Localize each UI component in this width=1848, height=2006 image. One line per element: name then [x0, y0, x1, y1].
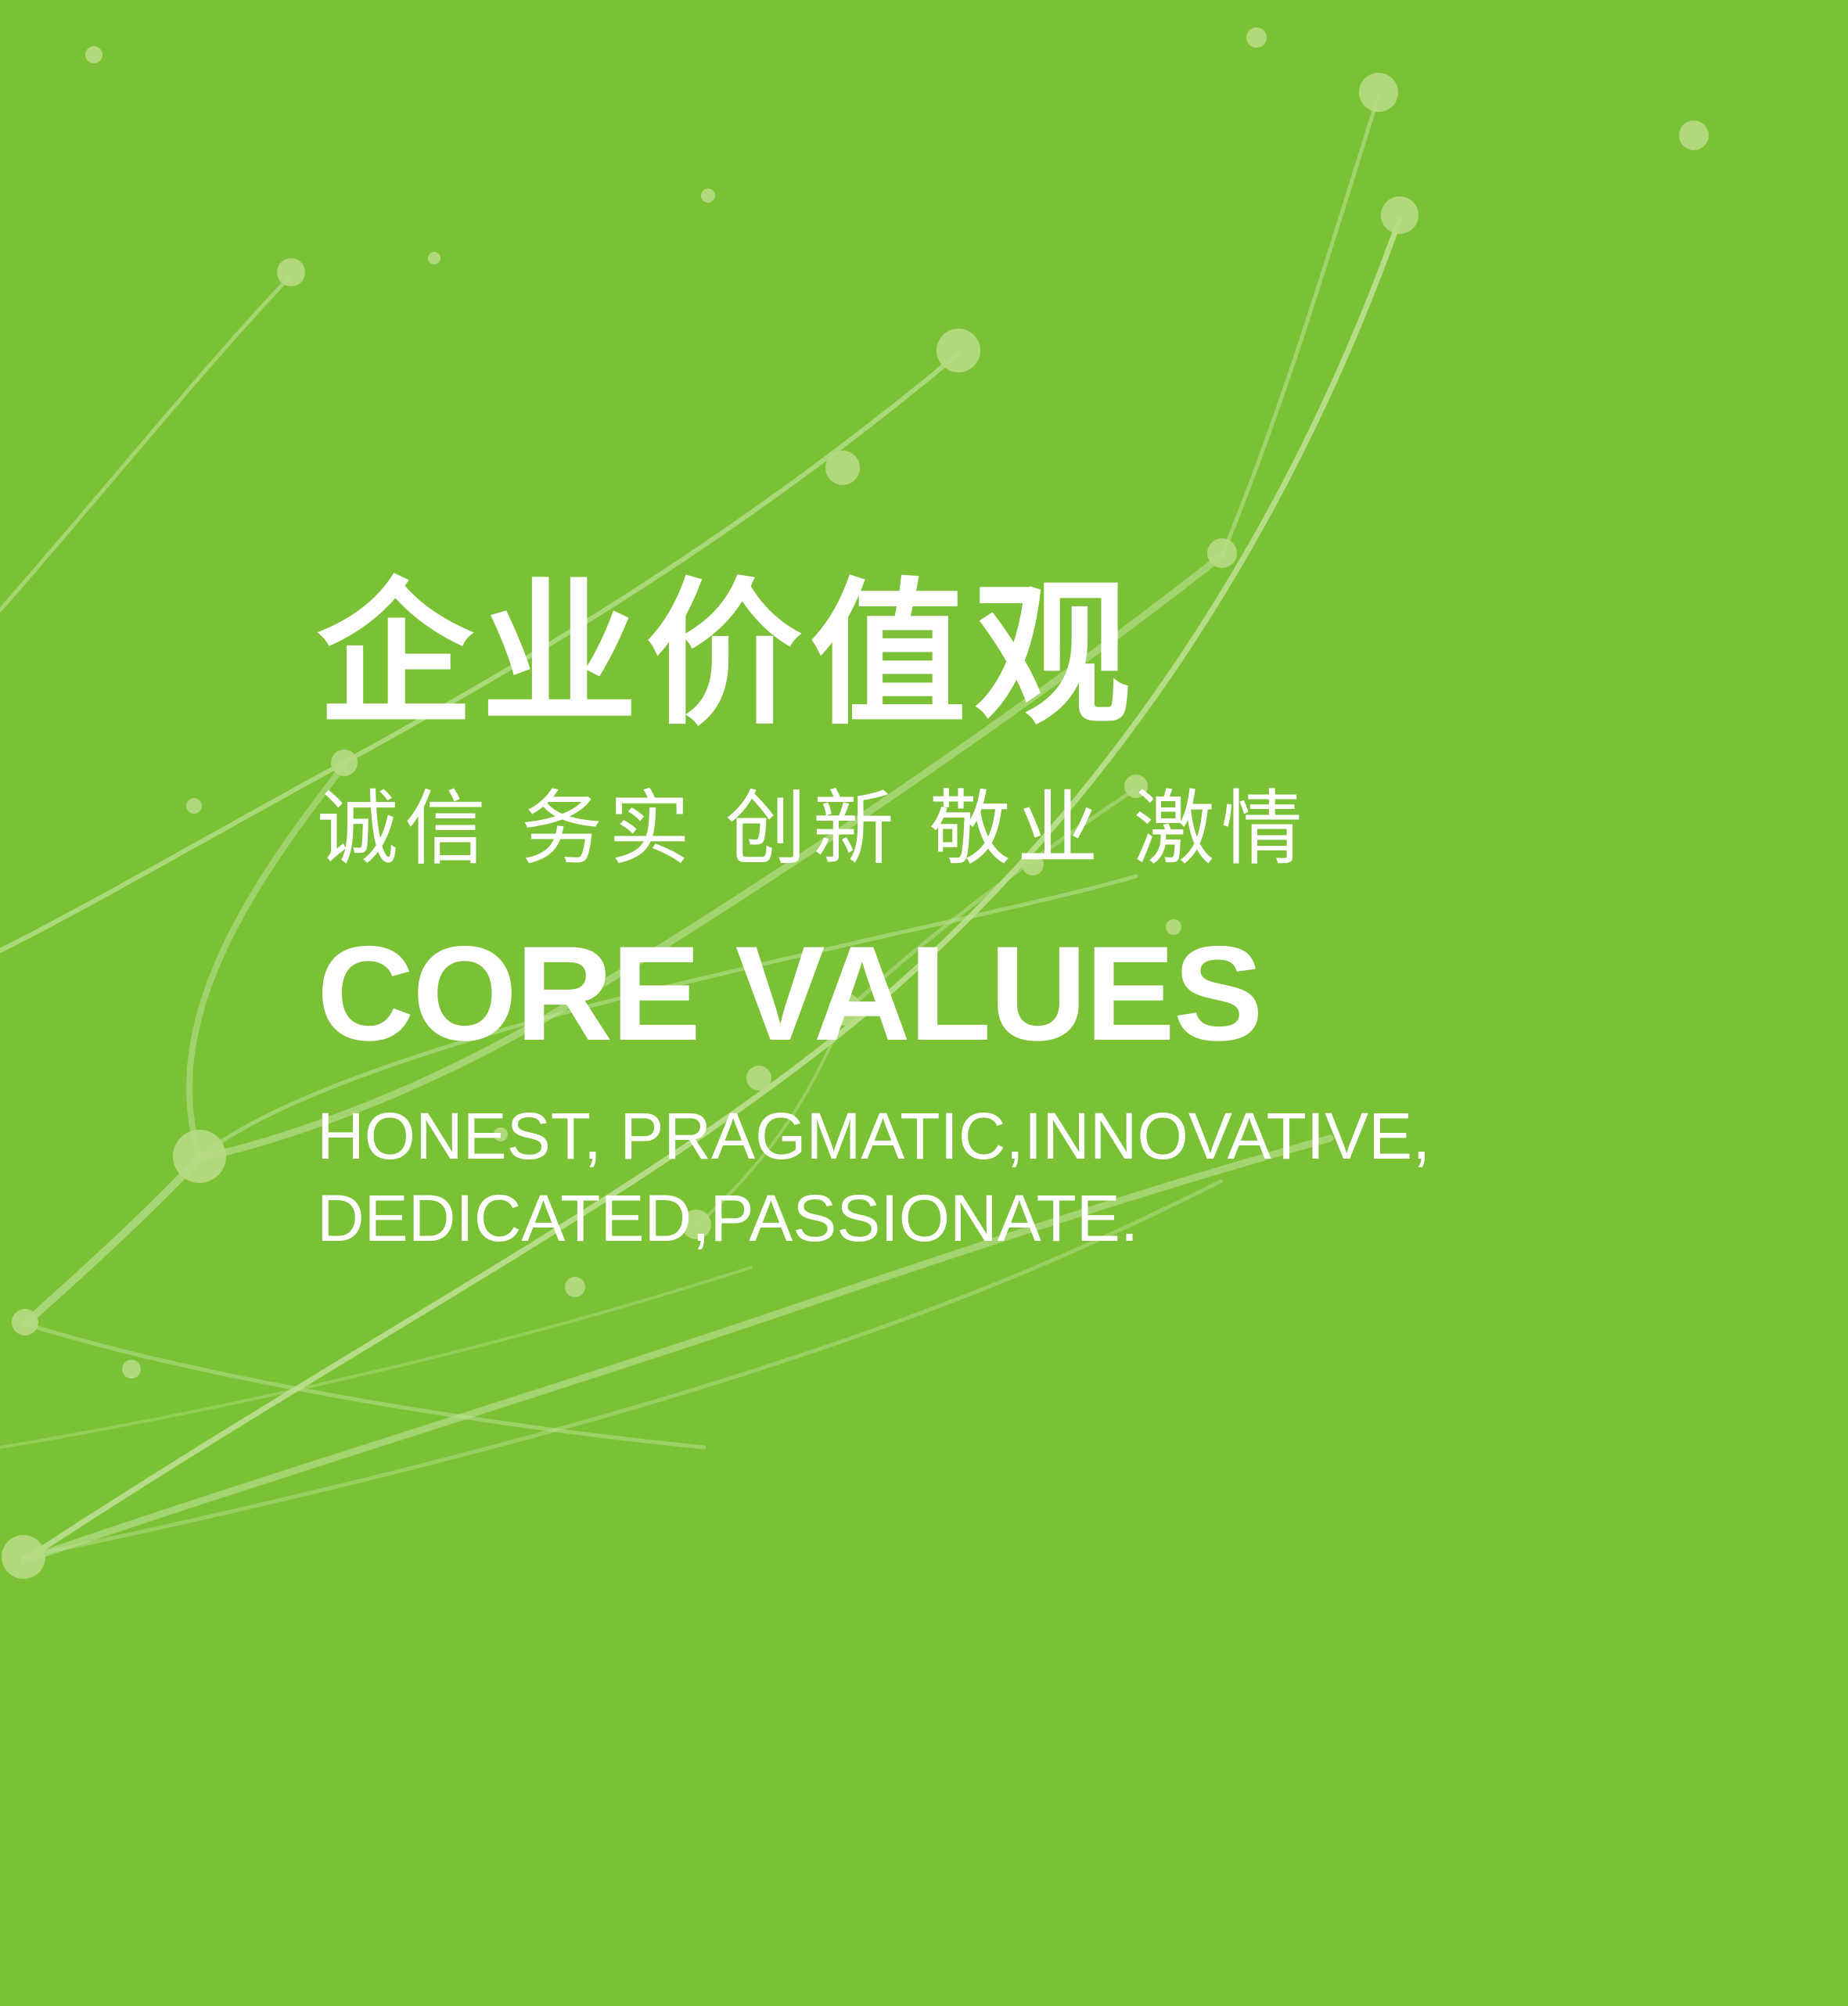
page-title-chinese: 企业价值观 [317, 577, 1741, 734]
body-line-2: DEDICATED,PASSIONATE. [317, 1177, 1741, 1260]
banner-content: 企业价值观 诚信 务实 创新 敬业 激情 CORE VALUES HONEST,… [317, 577, 1741, 1260]
page-title-english: CORE VALUES [317, 870, 1741, 1061]
subtitle-chinese: 诚信 务实 创新 敬业 激情 [317, 734, 1741, 870]
body-line-1: HONEST, PRAGMATIC,INNOVATIVE, [317, 1095, 1741, 1177]
body-english: HONEST, PRAGMATIC,INNOVATIVE, DEDICATED,… [317, 1061, 1741, 1260]
core-values-banner: 企业价值观 诚信 务实 创新 敬业 激情 CORE VALUES HONEST,… [0, 0, 1848, 2006]
